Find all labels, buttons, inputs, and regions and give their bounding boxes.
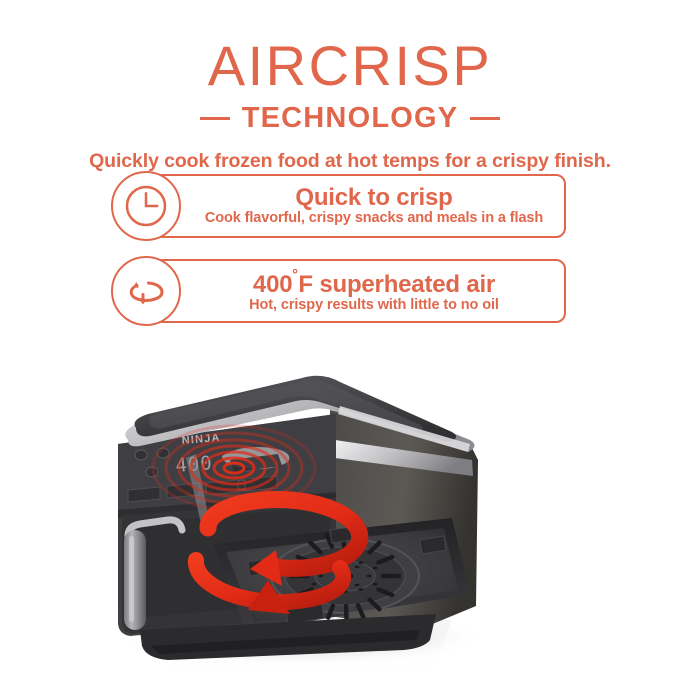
- handle-grip[interactable]: [124, 530, 146, 630]
- dash-left-icon: [200, 117, 230, 120]
- feature-title-prefix: 400: [253, 271, 292, 298]
- dash-right-icon: [470, 117, 500, 120]
- feature-text-block: 400˚F superheated air Hot, crispy result…: [192, 268, 556, 314]
- handle-highlight: [129, 536, 134, 622]
- air-fryer-product-image: NINJA 400: [0, 348, 700, 700]
- feature-title: Quick to crisp: [192, 185, 556, 210]
- feature-subtitle: Cook flavorful, crispy snacks and meals …: [192, 211, 556, 227]
- technology-subtitle-row: TECHNOLOGY: [0, 104, 700, 133]
- round-button-1[interactable]: [135, 450, 147, 460]
- clock-icon: [111, 171, 181, 241]
- feature-subtitle: Hot, crispy results with little to no oi…: [192, 298, 556, 314]
- feature-text-block: Quick to crisp Cook flavorful, crispy sn…: [192, 185, 556, 227]
- feature-title: 400˚F superheated air: [192, 268, 556, 297]
- feature-card-superheated-air: 400˚F superheated air Hot, crispy result…: [132, 259, 566, 323]
- infographic-page: AIRCRISP TECHNOLOGY Quickly cook frozen …: [0, 0, 700, 700]
- tagline: Quickly cook frozen food at hot temps fo…: [0, 150, 700, 173]
- header: AIRCRISP TECHNOLOGY Quickly cook frozen …: [0, 0, 700, 173]
- page-title: AIRCRISP: [0, 38, 700, 94]
- technology-label: TECHNOLOGY: [242, 104, 459, 133]
- feature-card-quick-to-crisp: Quick to crisp Cook flavorful, crispy sn…: [132, 174, 566, 238]
- program-button-1[interactable]: [128, 487, 160, 502]
- feature-title-suffix: F superheated air: [298, 271, 495, 298]
- circulating-air-arrow-icon: [111, 256, 181, 326]
